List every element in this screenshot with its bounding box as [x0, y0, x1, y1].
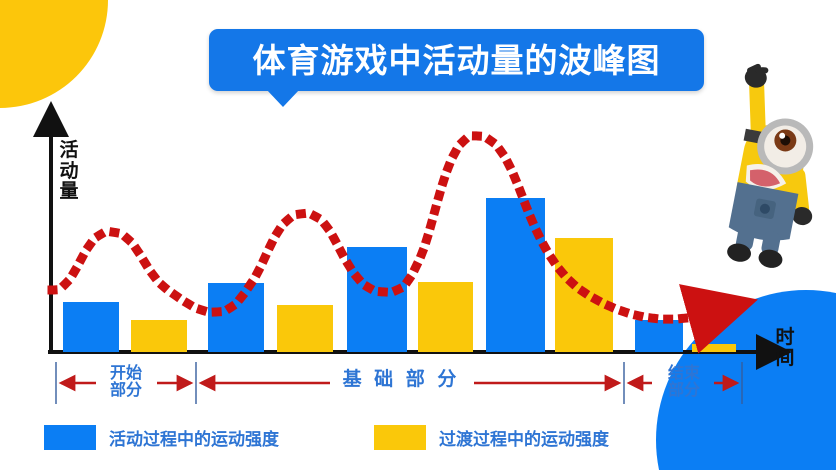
phase-label-start-line2: 部分 [98, 382, 154, 399]
legend-swatch-activity [44, 425, 96, 450]
legend-label-transition: 过渡过程中的运动强度 [439, 425, 609, 450]
minion-thumb [750, 66, 766, 74]
slide-canvas: 体育游戏中活动量的波峰图 [0, 0, 836, 470]
legend-item-transition: 过渡过程中的运动强度 [374, 425, 609, 450]
phase-label-middle: 基 础 部 分 [334, 370, 468, 390]
x-axis-label: 时间 [772, 327, 798, 368]
phase-label-end: 结束 部分 [656, 365, 712, 399]
bar-activity-3 [347, 247, 407, 352]
minion-character [711, 62, 829, 272]
bar-transition-5 [692, 344, 736, 352]
chart-legend: 活动过程中的运动强度 过渡过程中的运动强度 [44, 425, 644, 453]
legend-swatch-transition [374, 425, 426, 450]
bar-activity-2 [208, 283, 264, 352]
legend-label-activity: 活动过程中的运动强度 [109, 425, 279, 450]
legend-item-activity: 活动过程中的运动强度 [44, 425, 279, 450]
y-axis-label: 活动量 [57, 140, 81, 202]
minion-foot-right [757, 248, 784, 270]
bar-transition-3 [418, 282, 473, 352]
phase-label-start: 开始 部分 [98, 365, 154, 399]
bar-activity-1 [63, 302, 119, 352]
bar-transition-1 [131, 320, 187, 352]
phase-label-end-line2: 部分 [656, 382, 712, 399]
bar-group [63, 198, 736, 352]
bar-activity-5 [635, 320, 683, 352]
bar-transition-2 [277, 305, 333, 352]
